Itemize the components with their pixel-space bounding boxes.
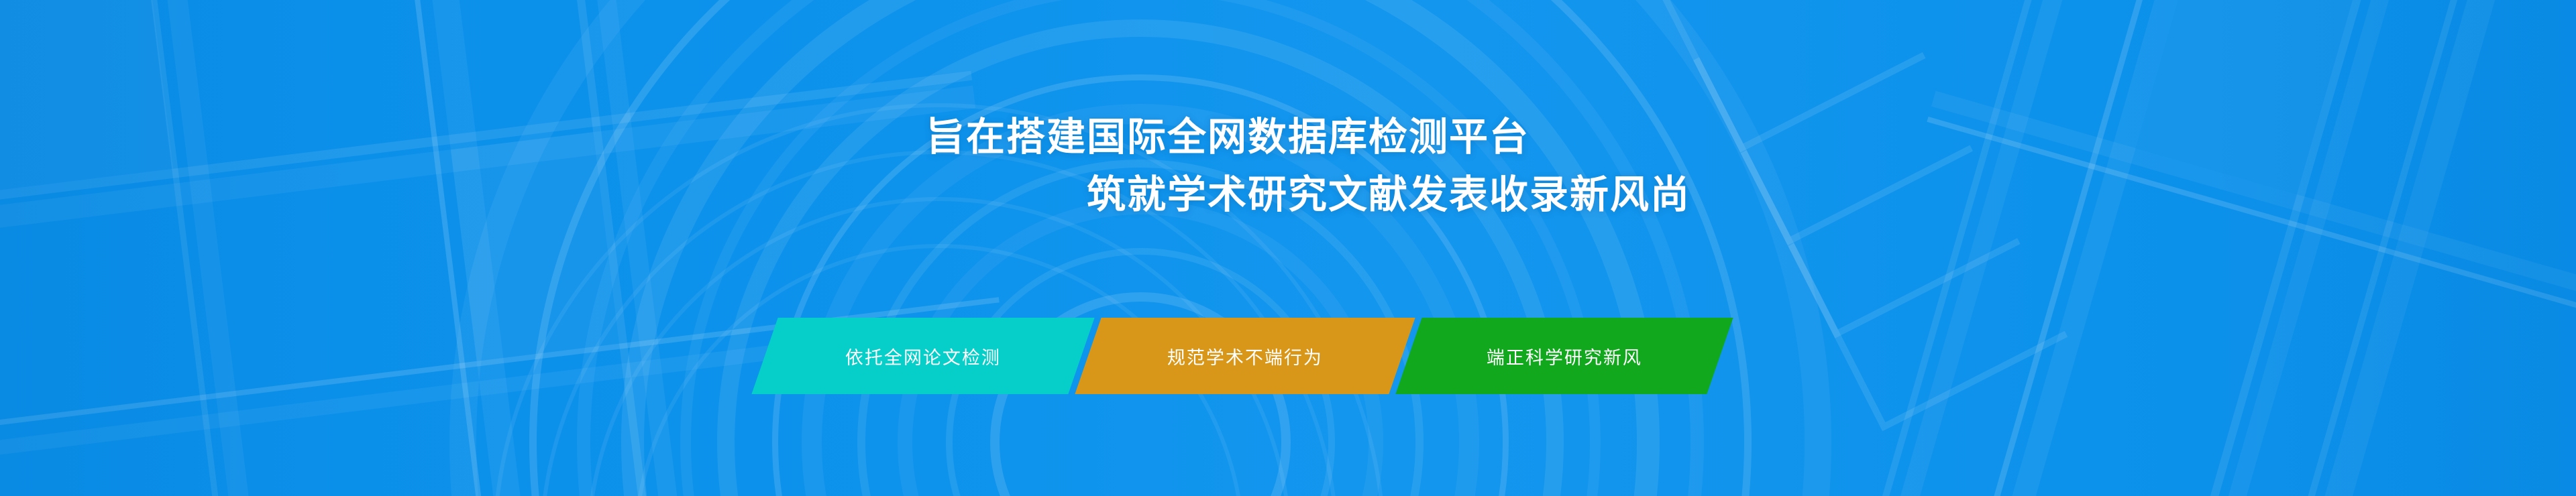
feature-tag-2[interactable]: 端正科学研究新风 xyxy=(1395,318,1733,394)
feature-tag-1-label: 规范学术不端行为 xyxy=(1167,343,1323,369)
banner-content: 旨在搭建国际全网数据库检测平台 筑就学术研究文献发表收录新风尚 依托全网论文检测… xyxy=(0,0,2576,496)
headline-line-2: 筑就学术研究文献发表收录新风尚 xyxy=(0,176,2576,214)
feature-tag-1[interactable]: 规范学术不端行为 xyxy=(1075,318,1415,394)
headline-line-1: 旨在搭建国际全网数据库检测平台 xyxy=(0,118,2576,157)
feature-tag-bar: 依托全网论文检测 规范学术不端行为 端正科学研究新风 xyxy=(765,318,1811,395)
feature-tag-2-label: 端正科学研究新风 xyxy=(1487,343,1642,369)
hero-banner: 旨在搭建国际全网数据库检测平台 筑就学术研究文献发表收录新风尚 依托全网论文检测… xyxy=(0,0,2576,496)
headline: 旨在搭建国际全网数据库检测平台 筑就学术研究文献发表收录新风尚 xyxy=(0,118,2576,214)
feature-tag-0[interactable]: 依托全网论文检测 xyxy=(751,318,1094,394)
feature-tag-0-label: 依托全网论文检测 xyxy=(845,343,1001,369)
